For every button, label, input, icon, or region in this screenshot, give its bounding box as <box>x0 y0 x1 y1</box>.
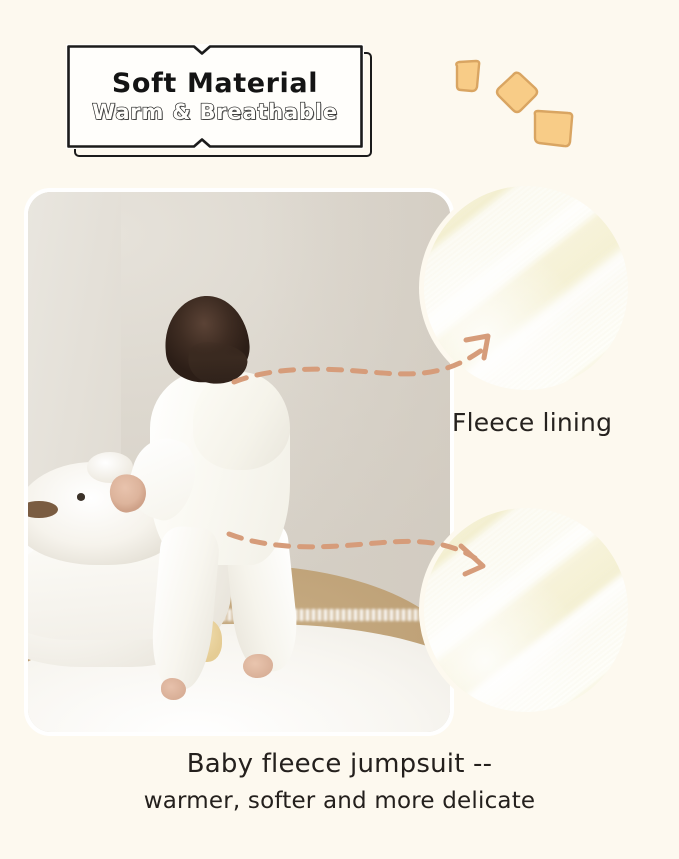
decor-shape-2 <box>497 73 537 112</box>
decor-shape-3 <box>535 111 572 146</box>
baby-foot-front <box>161 678 186 700</box>
baby-foot-back <box>243 654 273 678</box>
product-feature-card: Soft Material Warm & Breathable <box>0 0 679 859</box>
decor-shapes-group <box>450 58 580 153</box>
fleece-lining-label: Fleece lining <box>452 408 612 437</box>
badge-subtitle: Warm & Breathable <box>92 100 338 124</box>
main-product-photo <box>24 188 454 736</box>
decor-shape-1 <box>456 61 479 91</box>
caption-block: Baby fleece jumpsuit -- warmer, softer a… <box>0 746 679 818</box>
arrow-to-bottom-inset <box>225 508 515 598</box>
photo-scene <box>28 192 450 732</box>
title-badge-text-group: Soft Material Warm & Breathable <box>66 44 364 149</box>
title-badge: Soft Material Warm & Breathable <box>66 44 372 157</box>
caption-line-2: warmer, softer and more delicate <box>0 784 679 819</box>
arrow-to-top-inset <box>230 320 520 410</box>
caption-line-1: Baby fleece jumpsuit -- <box>0 746 679 784</box>
badge-title: Soft Material <box>112 69 318 99</box>
title-badge-frame: Soft Material Warm & Breathable <box>66 44 364 149</box>
